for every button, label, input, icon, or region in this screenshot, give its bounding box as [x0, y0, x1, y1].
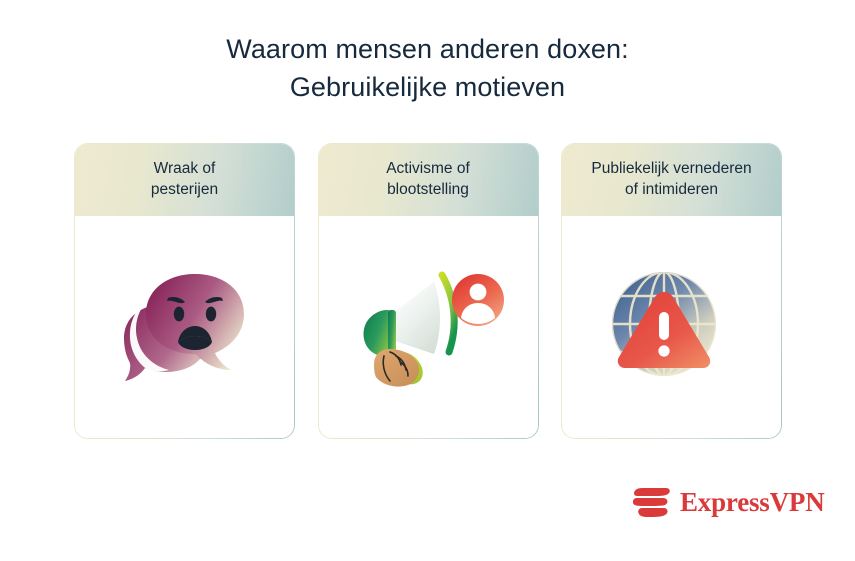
card-title: Wraak of pesterijen	[151, 159, 218, 200]
card-body	[562, 216, 781, 438]
megaphone-sound-arc	[442, 275, 454, 352]
card-header: Activisme of blootstelling	[319, 144, 538, 216]
person-avatar-icon	[452, 274, 504, 326]
angry-speech-bubbles-icon	[110, 262, 260, 392]
logo-wordmark: ExpressVPN	[680, 489, 825, 516]
cards-row: Wraak of pesterijen	[74, 143, 782, 439]
globe-warning-icon	[604, 262, 740, 392]
card-activism-exposure: Activisme of blootstelling	[318, 143, 539, 439]
card-public-humiliation: Publiekelijk vernederen of intimideren	[561, 143, 782, 439]
card-title: Activisme of blootstelling	[386, 159, 470, 200]
card-body	[75, 216, 294, 438]
infographic-root: Waarom mensen anderen doxen: Gebruikelij…	[0, 0, 855, 561]
card-revenge-harassment: Wraak of pesterijen	[74, 143, 295, 439]
hand-icon	[374, 348, 419, 386]
card-body	[319, 216, 538, 438]
megaphone-cone	[392, 282, 440, 354]
card-title: Publiekelijk vernederen of intimideren	[591, 159, 751, 200]
megaphone-with-person-icon	[348, 260, 508, 395]
page-title: Waarom mensen anderen doxen: Gebruikelij…	[0, 30, 855, 107]
expressvpn-logo: ExpressVPN	[633, 486, 825, 519]
expressvpn-e-mark	[633, 486, 671, 519]
card-header: Wraak of pesterijen	[75, 144, 294, 216]
card-header: Publiekelijk vernederen of intimideren	[562, 144, 781, 216]
